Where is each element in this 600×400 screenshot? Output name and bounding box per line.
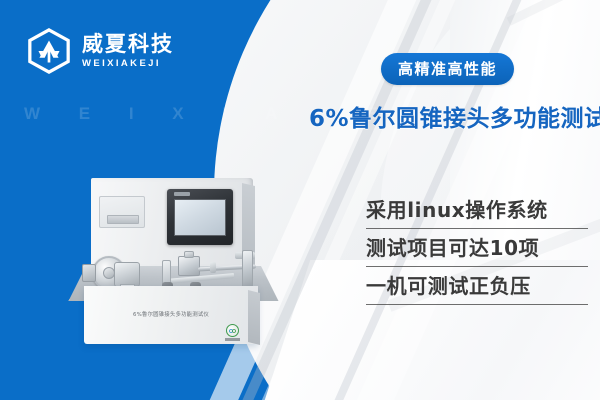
feature-label: 测试项目可达10项 bbox=[366, 234, 588, 263]
brand-logo-text: 威夏科技 WEIXIAKEJI bbox=[82, 34, 174, 69]
feature-list: 采用linux操作系统 测试项目可达10项 一机可测试正负压 bbox=[366, 196, 588, 310]
feature-label: 采用linux操作系统 bbox=[366, 196, 588, 225]
brand-name-en: WEIXIAKEJI bbox=[82, 59, 174, 69]
feature-divider bbox=[366, 228, 588, 229]
hmi-touchscreen-icon bbox=[167, 189, 233, 245]
list-item: 采用linux操作系统 bbox=[366, 196, 588, 229]
brand-logo: 威夏科技 WEIXIAKEJI bbox=[26, 28, 174, 74]
badge-circle bbox=[226, 324, 239, 337]
feature-divider bbox=[366, 304, 588, 305]
badge-glyph-icon bbox=[229, 328, 236, 334]
product-front-label: 6%鲁尔圆锥接头多功能测试仪 bbox=[84, 310, 258, 318]
headline-badge: 高精准高性能 bbox=[381, 53, 514, 85]
product-image: 6%鲁尔圆锥接头多功能测试仪 bbox=[62, 178, 284, 360]
shield-mountain-logo-icon bbox=[26, 28, 72, 74]
promo-banner: W E I X I A K E 威夏科技 WEIXIAKEJI 高精准高性能 6… bbox=[0, 0, 600, 400]
feature-divider bbox=[366, 266, 588, 267]
door-handle bbox=[107, 215, 139, 224]
access-door-icon bbox=[99, 196, 145, 228]
screen-display bbox=[174, 199, 226, 236]
support-post bbox=[242, 250, 253, 290]
brand-name-cn: 威夏科技 bbox=[82, 34, 174, 55]
dial-arm bbox=[82, 264, 96, 282]
page-title: 6%鲁尔圆锥接头多功能测试仪 bbox=[309, 99, 600, 133]
feature-label: 一机可测试正负压 bbox=[366, 272, 588, 301]
clamp-center bbox=[178, 256, 200, 276]
list-item: 一机可测试正负压 bbox=[366, 272, 588, 305]
rod-cap bbox=[210, 262, 216, 273]
list-item: 测试项目可达10项 bbox=[366, 234, 588, 267]
certification-badge-icon bbox=[224, 324, 241, 341]
screen-brand-strip bbox=[174, 192, 190, 196]
clamp-center-top bbox=[184, 251, 194, 258]
badge-text-bar bbox=[225, 338, 240, 341]
